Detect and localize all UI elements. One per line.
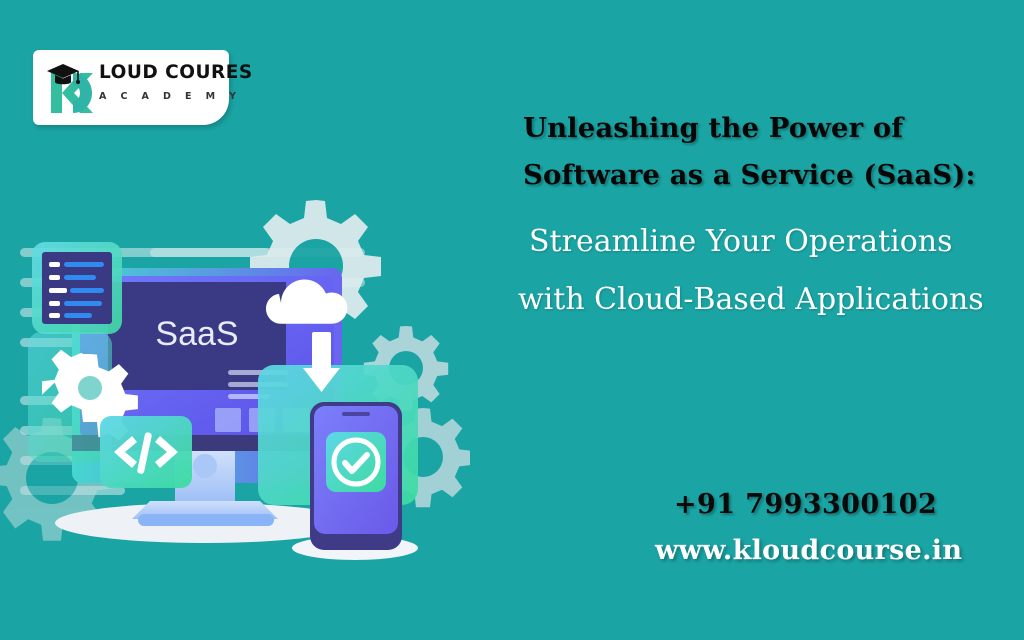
website-url[interactable]: www.kloudcourse.in [655, 535, 962, 566]
headline-line-2: Software as a Service (SaaS): [523, 159, 976, 191]
logo-badge[interactable]: LOUD COURES A C A D E M Y [33, 50, 229, 125]
subheadline-line-2: with Cloud-Based Applications [509, 271, 1024, 329]
headline: Unleashing the Power of Software as a Se… [523, 105, 1024, 199]
code-card [100, 416, 192, 488]
smartphone [310, 402, 402, 550]
phone-number[interactable]: +91 7993300102 [674, 489, 937, 520]
graduation-cap-k-monogram-icon [43, 59, 99, 117]
subheadline-line-1: Streamline Your Operations [509, 213, 1024, 271]
saas-illustration: SaaS [0, 180, 470, 580]
logo-title: LOUD COURES [99, 64, 227, 83]
logo-text: LOUD COURES A C A D E M Y [99, 64, 227, 102]
promotional-banner: SaaS [0, 0, 1024, 640]
subheadline: Streamline Your Operations with Cloud-Ba… [509, 213, 1024, 329]
logo-subtitle: A C A D E M Y [99, 91, 227, 102]
code-lines-card [32, 242, 122, 334]
monitor-screen-label: SaaS [155, 315, 238, 353]
headline-line-1: Unleashing the Power of [523, 112, 903, 144]
